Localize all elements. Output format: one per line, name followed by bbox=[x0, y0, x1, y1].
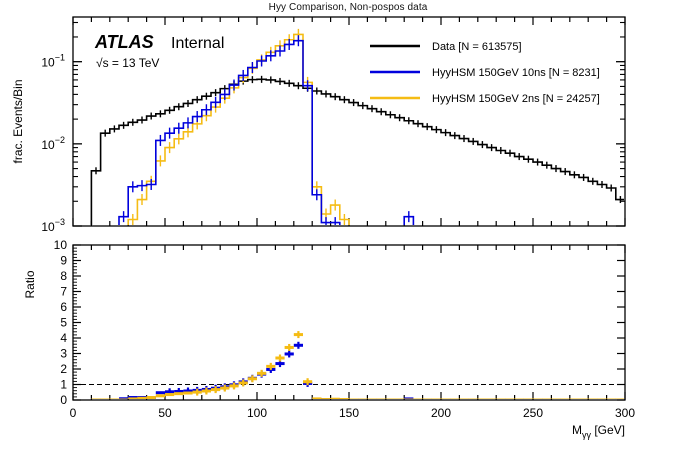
x-axis-tick-label: 0 bbox=[70, 406, 77, 420]
ratio-y-tick-label: 0 bbox=[60, 393, 67, 407]
ratio-y-tick-label: 3 bbox=[60, 347, 67, 361]
y-tick-label-group: 10−2 bbox=[41, 135, 65, 152]
ratio-y-tick-label: 4 bbox=[60, 331, 67, 345]
x-axis-tick-label: 100 bbox=[247, 406, 267, 420]
ratio-y-tick-label: 5 bbox=[60, 316, 67, 330]
ratio-y-tick-label: 8 bbox=[60, 269, 67, 283]
y-axis-tick-label: 10−1 bbox=[41, 53, 65, 70]
y-tick-label-group: 10−1 bbox=[41, 53, 65, 70]
y-tick-label-group: 10−3 bbox=[41, 217, 65, 234]
legend-label-2: HyyHSM 150GeV 2ns [N = 24257] bbox=[432, 93, 600, 105]
ratio-y-tick-label: 9 bbox=[60, 254, 67, 268]
x-axis-tick-label: 150 bbox=[339, 406, 359, 420]
ratio-y-tick-label: 6 bbox=[60, 300, 67, 314]
ratio-y-tick-label: 7 bbox=[60, 285, 67, 299]
x-axis-tick-label: 300 bbox=[615, 406, 635, 420]
plot-canvas: Hyy Comparison, Non-pospos data 10−310−2… bbox=[0, 0, 696, 472]
ratio-axis-title: Ratio bbox=[23, 270, 37, 298]
y-axis-tick-label: 10−2 bbox=[41, 135, 65, 152]
ratio-panel-data bbox=[91, 331, 625, 400]
ratio-y-tick-label: 1 bbox=[60, 378, 67, 392]
legend-label-0: Data [N = 613575] bbox=[432, 41, 522, 53]
top-panel-frame bbox=[73, 17, 625, 226]
x-axis-tick-label: 250 bbox=[523, 406, 543, 420]
atlas-label: ATLAS bbox=[94, 32, 154, 52]
center-of-mass-energy-label: √s = 13 TeV bbox=[96, 56, 159, 70]
x-axis-title: Mγγ [GeV] bbox=[572, 423, 625, 440]
ratio-y-tick-label: 10 bbox=[54, 238, 68, 252]
x-axis-tick-label: 200 bbox=[431, 406, 451, 420]
ratio-y-tick-label: 2 bbox=[60, 362, 67, 376]
y-axis-tick-label: 10−3 bbox=[41, 217, 65, 234]
y-axis-title: frac. Events/Bin bbox=[11, 79, 25, 163]
atlas-status-label: Internal bbox=[171, 35, 224, 52]
x-axis-tick-label: 50 bbox=[158, 406, 172, 420]
physics-plot: 10−310−210−10123456789100501001502002503… bbox=[0, 0, 696, 472]
ratio-panel-frame bbox=[73, 245, 625, 400]
legend-label-1: HyyHSM 150GeV 10ns [N = 8231] bbox=[432, 67, 600, 79]
